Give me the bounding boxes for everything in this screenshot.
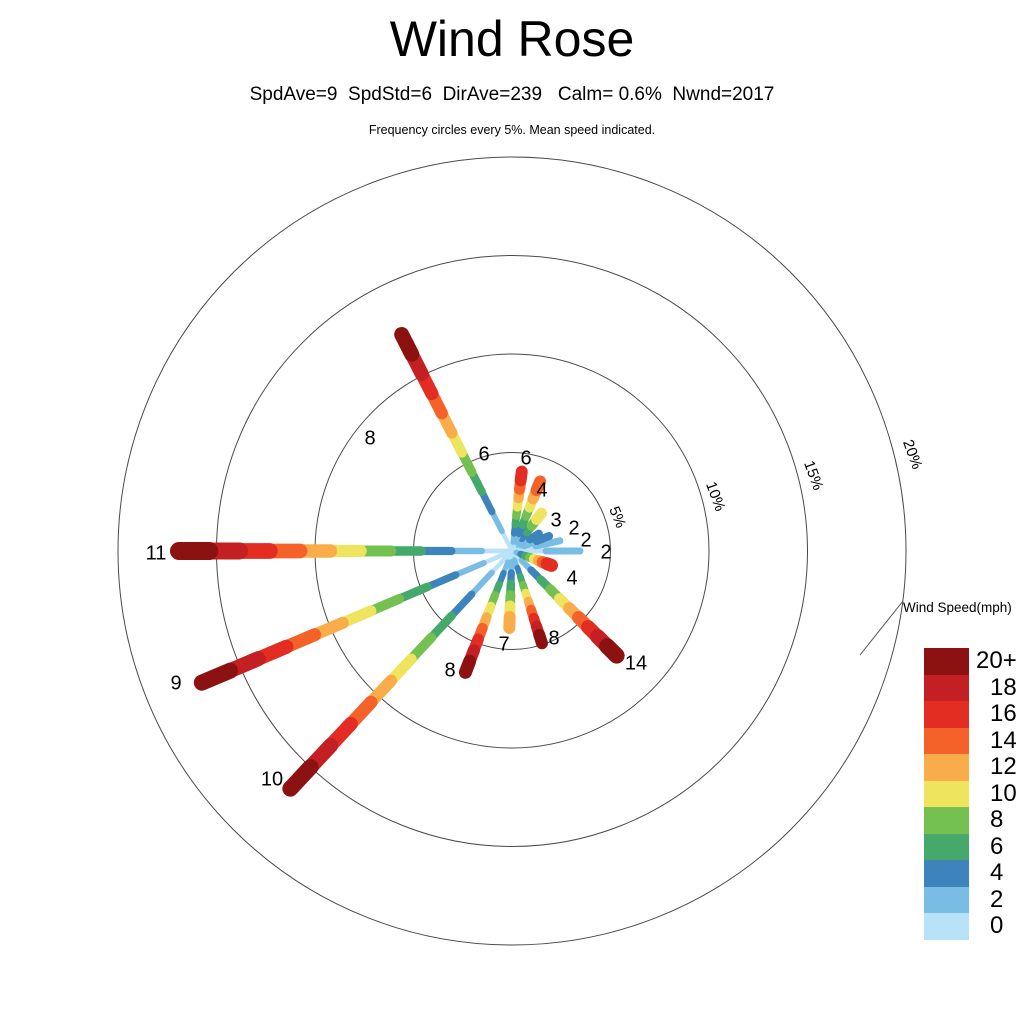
- wind-rose-petals: [179, 334, 617, 788]
- petal-ese-bin-8: [547, 564, 551, 566]
- petal-wsw-bin-10: [202, 671, 230, 683]
- petal-wsw-bin-1: [456, 563, 484, 575]
- petal-nw-bin-0: [502, 531, 512, 551]
- petal-ne2-bin-2: [530, 534, 539, 540]
- petal-s: [509, 551, 512, 628]
- legend-label-6: 6: [990, 833, 1024, 860]
- petal-nne-mean-speed-label: 4: [536, 479, 547, 501]
- petal-n2-bin-8: [521, 472, 522, 481]
- petal-nne-bin-5: [537, 513, 542, 519]
- petal-wsw-bin-2: [427, 575, 455, 587]
- legend-label-2: 2: [990, 886, 1024, 913]
- petal-ssw-bin-10: [465, 661, 469, 672]
- legend-label-14: 14: [990, 727, 1024, 754]
- petal-sw-bin-10: [290, 767, 310, 789]
- petal-ssw-mean-speed-label: 8: [444, 659, 455, 681]
- petal-se-bin-10: [607, 646, 617, 656]
- legend-color-chip-20plus: [924, 648, 969, 675]
- petal-sw: [290, 551, 512, 789]
- legend-color-chip-2: [924, 887, 969, 914]
- legend-title: Wind Speed(mph): [903, 600, 1024, 616]
- petal-nw: [402, 334, 512, 551]
- legend-color-chip-14: [924, 728, 969, 755]
- legend-color-chip-12: [924, 754, 969, 781]
- legend-label-20plus: 20+: [976, 647, 1024, 674]
- legend-color-chip-16: [924, 701, 969, 728]
- petal-se-mean-speed-label: 14: [625, 652, 647, 674]
- petal-e-mean-speed-label: 2: [600, 541, 611, 563]
- petal-n2-mean-speed-label: 6: [478, 443, 489, 465]
- legend-label-12: 12: [990, 753, 1024, 780]
- legend-color-chip-0: [924, 913, 969, 940]
- radial-label-20pct: 20%: [899, 437, 925, 471]
- petal-ne2-mean-speed-label: 3: [550, 509, 561, 531]
- petal-ese-mean-speed-label: 4: [566, 567, 577, 589]
- legend-label-8: 8: [990, 806, 1024, 833]
- petal-s-mean-speed-label: 7: [498, 633, 509, 655]
- legend-color-chip-6: [924, 834, 969, 861]
- legend-color-chip-18: [924, 675, 969, 702]
- legend-color-chip-8: [924, 807, 969, 834]
- legend-leader-line: [860, 601, 903, 655]
- legend-label-0: 0: [990, 912, 1024, 939]
- wind-rose-plot: 2223466811910878144 5%10%15%20%: [0, 0, 1024, 1024]
- petal-sw-bin-1: [472, 573, 492, 595]
- legend-label-16: 16: [990, 700, 1024, 727]
- petal-wsw-mean-speed-label: 9: [170, 672, 181, 694]
- petal-sse-bin-10: [539, 635, 542, 643]
- legend-label-10: 10: [990, 780, 1024, 807]
- legend-color-chip-4: [924, 860, 969, 887]
- legend-color-chip-10: [924, 781, 969, 808]
- legend-label-4: 4: [990, 859, 1024, 886]
- petal-ene-mean-speed-label: 2: [580, 529, 591, 551]
- petal-sse-mean-speed-label: 8: [548, 627, 559, 649]
- radial-label-15pct: 15%: [800, 458, 826, 492]
- petal-sw-mean-speed-label: 10: [261, 768, 283, 790]
- legend-label-18: 18: [990, 674, 1024, 701]
- radial-axis-labels: 5%10%15%20%: [605, 437, 925, 530]
- radial-label-5pct: 5%: [605, 504, 629, 530]
- petal-sw-bin-2: [452, 594, 472, 616]
- petal-n1-mean-speed-label: 6: [520, 447, 531, 469]
- petal-ne1-mean-speed-label: 2: [568, 517, 579, 539]
- petal-nw-mean-speed-label: 8: [364, 427, 375, 449]
- petal-nw-bin-10: [402, 334, 412, 354]
- petal-w-mean-speed-label: 11: [146, 542, 167, 564]
- radial-label-10pct: 10%: [702, 479, 728, 513]
- legend: Wind Speed(mph) 20+181614121086420: [900, 600, 1024, 616]
